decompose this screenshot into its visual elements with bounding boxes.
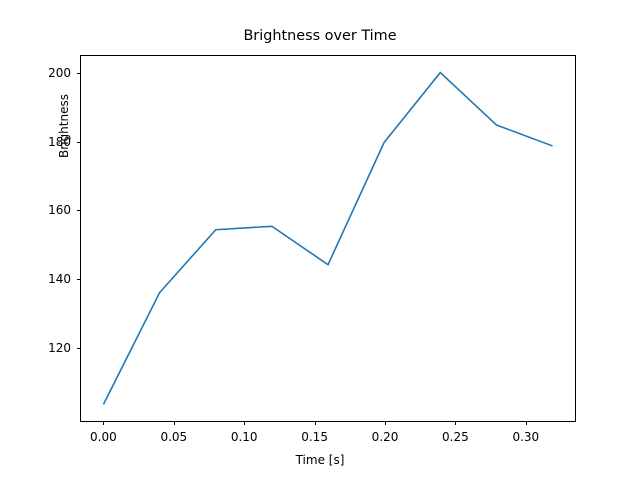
plot-area xyxy=(80,55,576,422)
figure-canvas: Brightness over Time 200 180 160 140 120… xyxy=(0,0,640,480)
ytick-mark xyxy=(77,142,81,143)
xtick-mark xyxy=(455,421,456,425)
ytick-label: 120 xyxy=(48,341,71,355)
xtick-mark xyxy=(103,421,104,425)
xtick-mark xyxy=(526,421,527,425)
yaxis-label: Brightness xyxy=(57,6,71,246)
ytick-mark xyxy=(77,73,81,74)
xaxis-label: Time [s] xyxy=(0,453,640,467)
line-chart-svg xyxy=(81,56,575,421)
xtick-label: 0.05 xyxy=(160,430,187,444)
chart-title: Brightness over Time xyxy=(0,28,640,44)
xtick-label: 0.15 xyxy=(301,430,328,444)
xaxis-tick-labels: 0.00 0.05 0.10 0.15 0.20 0.25 0.30 xyxy=(0,430,640,450)
xtick-label: 0.30 xyxy=(512,430,539,444)
xtick-label: 0.20 xyxy=(372,430,399,444)
xtick-mark xyxy=(315,421,316,425)
xtick-mark xyxy=(174,421,175,425)
ytick-mark xyxy=(77,348,81,349)
ytick-label: 140 xyxy=(48,272,71,286)
xtick-label: 0.25 xyxy=(442,430,469,444)
data-series-brightness xyxy=(103,73,552,405)
ytick-mark xyxy=(77,210,81,211)
xtick-mark xyxy=(385,421,386,425)
xtick-mark xyxy=(244,421,245,425)
xtick-label: 0.10 xyxy=(231,430,258,444)
xtick-label: 0.00 xyxy=(90,430,117,444)
ytick-mark xyxy=(77,279,81,280)
